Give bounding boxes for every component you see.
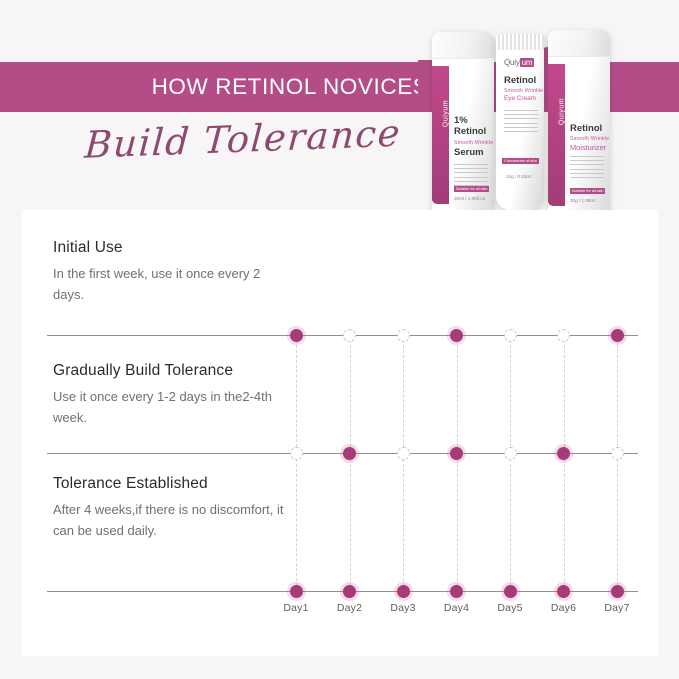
moisturizer-side-band: Quiyum xyxy=(548,64,565,206)
gridline-day6 xyxy=(564,335,565,591)
serum-title-l3: Serum xyxy=(454,148,484,159)
eye-cream-badge: Concentrate of skin care RETINOL xyxy=(502,158,539,164)
gridline-day3 xyxy=(403,335,404,591)
bottle-cap-icon xyxy=(432,32,494,59)
serum-title-l2: Retinol xyxy=(454,126,486,137)
stage-tolerance-established: Tolerance Established After 4 weeks,if t… xyxy=(53,475,293,541)
timeline-axis-row-1 xyxy=(47,335,638,336)
stage-2-description: Use it once every 1-2 days in the2-4th w… xyxy=(53,386,293,428)
node-row2-day4[interactable] xyxy=(450,447,463,460)
node-row1-day5[interactable] xyxy=(504,329,517,342)
eye-cream-copy-lines xyxy=(504,110,538,135)
node-row1-day3[interactable] xyxy=(397,329,410,342)
node-row3-day3[interactable] xyxy=(397,585,410,598)
eye-cream-title: Retinol xyxy=(504,76,536,87)
stage-2-title: Gradually Build Tolerance xyxy=(53,362,293,380)
day-label-day7: Day7 xyxy=(594,602,640,614)
serum-subtitle: Smooth Wrinkle xyxy=(454,140,493,146)
eye-cream-subtitle: Smooth Wrinkle xyxy=(504,88,543,94)
serum-title: 1% Retinol xyxy=(454,116,486,137)
gridline-day2 xyxy=(350,335,351,591)
node-row2-day3[interactable] xyxy=(397,447,410,460)
product-moisturizer-bottle: Quiyum Retinol Smooth Wrinkle Moisturize… xyxy=(548,30,610,216)
moisturizer-volume: 30g / 1.06oz xyxy=(570,198,595,203)
script-subtitle: Build Tolerance xyxy=(77,111,410,167)
stage-1-title: Initial Use xyxy=(53,239,293,257)
moisturizer-copy-lines xyxy=(570,156,604,181)
node-row2-day2[interactable] xyxy=(343,447,356,460)
day-label-day5: Day5 xyxy=(487,602,533,614)
bottle-cap-icon xyxy=(548,30,610,57)
node-row2-day1[interactable] xyxy=(290,447,303,460)
gridline-day5 xyxy=(510,335,511,591)
node-row3-day1[interactable] xyxy=(290,585,303,598)
timeline-axis-row-3 xyxy=(47,591,638,592)
moisturizer-title-l2: Moisturizer xyxy=(570,143,606,152)
eye-brand-suffix: um xyxy=(520,58,535,67)
node-row1-day1[interactable] xyxy=(290,329,303,342)
eye-brand-prefix: Quiy xyxy=(504,58,520,67)
stage-initial-use: Initial Use In the first week, use it on… xyxy=(53,239,293,305)
eye-cream-brand: Quiyum xyxy=(504,58,534,67)
day-label-day1: Day1 xyxy=(273,602,319,614)
product-serum-bottle: Quiyum 1% Retinol Smooth Wrinkle Serum S… xyxy=(432,32,494,214)
node-row1-day2[interactable] xyxy=(343,329,356,342)
stage-3-title: Tolerance Established xyxy=(53,475,293,493)
moisturizer-vertical-brand: Quiyum xyxy=(559,82,566,142)
gridline-day7 xyxy=(617,335,618,591)
moisturizer-subtitle: Smooth Wrinkle xyxy=(570,136,609,142)
gridline-day4 xyxy=(457,335,458,591)
eye-cream-title-l2: Eye Cream xyxy=(504,95,536,102)
eye-cream-volume: 15g / 0.53oz xyxy=(506,174,531,179)
gridline-day1 xyxy=(296,335,297,591)
tube-crimp-icon xyxy=(496,34,544,50)
moisturizer-title: Retinol xyxy=(570,124,602,135)
day-label-day2: Day2 xyxy=(327,602,373,614)
node-row3-day2[interactable] xyxy=(343,585,356,598)
serum-vertical-brand: Quiyum xyxy=(443,84,450,144)
day-label-day6: Day6 xyxy=(541,602,587,614)
node-row3-day4[interactable] xyxy=(450,585,463,598)
node-row3-day6[interactable] xyxy=(557,585,570,598)
node-row2-day5[interactable] xyxy=(504,447,517,460)
serum-badge: Suitable for all skin type xyxy=(454,186,489,192)
node-row3-day5[interactable] xyxy=(504,585,517,598)
stage-3-description: After 4 weeks,if there is no discomfort,… xyxy=(53,499,293,541)
node-row1-day6[interactable] xyxy=(557,329,570,342)
stage-gradually-build-tolerance: Gradually Build Tolerance Use it once ev… xyxy=(53,362,293,428)
node-row1-day4[interactable] xyxy=(450,329,463,342)
serum-title-l1: 1% xyxy=(454,115,468,126)
node-row2-day6[interactable] xyxy=(557,447,570,460)
serum-volume: 30ml / 1.06fl.oz xyxy=(454,196,485,201)
content-card: Initial Use In the first week, use it on… xyxy=(22,210,658,656)
day-label-day4: Day4 xyxy=(434,602,480,614)
product-image-cluster: Quiyum 1% Retinol Smooth Wrinkle Serum S… xyxy=(420,18,620,218)
day-label-day3: Day3 xyxy=(380,602,426,614)
serum-side-band: Quiyum xyxy=(432,66,449,204)
node-row1-day7[interactable] xyxy=(611,329,624,342)
timeline-axis-row-2 xyxy=(47,453,638,454)
stage-1-description: In the first week, use it once every 2 d… xyxy=(53,263,293,305)
node-row2-day7[interactable] xyxy=(611,447,624,460)
product-eye-cream-tube: Quiyum Retinol Smooth Wrinkle Eye Cream … xyxy=(496,34,544,210)
moisturizer-badge: Suitable for all skin type xyxy=(570,188,605,194)
node-row3-day7[interactable] xyxy=(611,585,624,598)
